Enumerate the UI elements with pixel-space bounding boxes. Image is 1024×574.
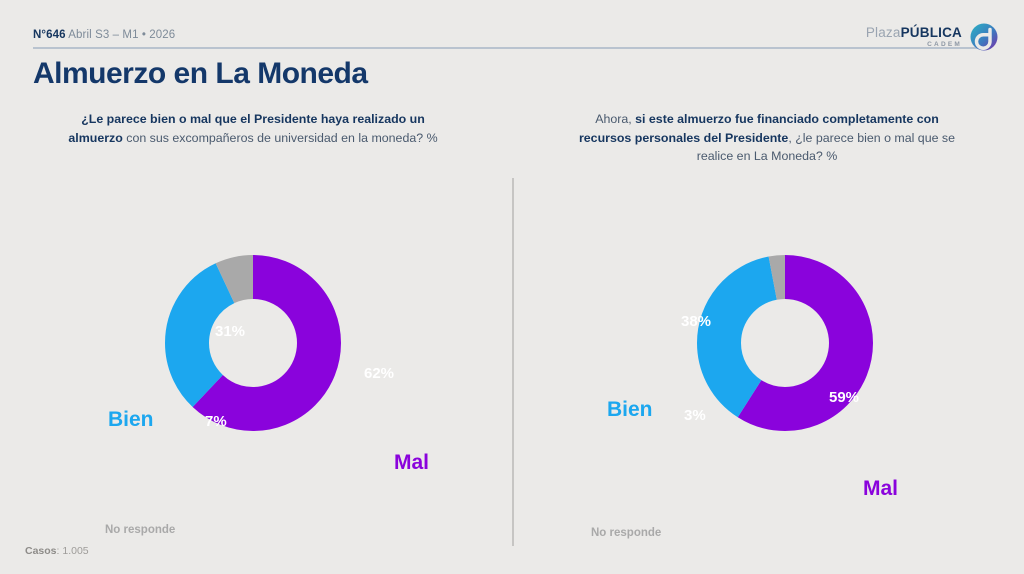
question-normal-right-1: Ahora,	[595, 112, 635, 126]
issue-date: Abril S3 – M1 • 2026	[68, 29, 175, 41]
panel-divider	[512, 178, 514, 546]
donut-svg-left	[165, 255, 341, 431]
value-bien-right: 38%	[681, 313, 711, 330]
label-bien-right: Bien	[607, 398, 653, 422]
footer-cases-value: : 1.005	[57, 545, 89, 557]
label-no-responde-left: No responde	[105, 524, 175, 536]
label-no-responde-right: No responde	[591, 527, 661, 539]
value-bien-left: 31%	[215, 323, 245, 340]
value-mal-left: 62%	[364, 365, 394, 382]
footer-cases-label: Casos	[25, 545, 57, 557]
brand-plaza-text: Plaza	[866, 25, 901, 40]
cadem-circle-icon	[969, 22, 999, 52]
label-bien-left: Bien	[108, 408, 154, 432]
question-text-right: Ahora, si este almuerzo fue financiado c…	[552, 110, 982, 166]
label-mal-right: Mal	[863, 477, 898, 501]
footer-cases: Casos: 1.005	[25, 545, 89, 557]
header-meta: N°646 Abril S3 – M1 • 2026	[33, 29, 175, 41]
brand-wordmark: PlazaPÚBLICA CADEM	[866, 26, 962, 49]
value-no-responde-right: 3%	[684, 407, 706, 424]
header-divider	[33, 47, 991, 49]
question-normal-left: con sus excompañeros de universidad en l…	[126, 131, 437, 145]
label-mal-left: Mal	[394, 451, 429, 475]
brand-publica-text: PÚBLICA	[901, 25, 962, 40]
issue-number: N°646	[33, 29, 66, 41]
donut-chart-left: 31% 62% 7% Bien Mal No responde	[38, 255, 468, 510]
chart-panel-right: Ahora, si este almuerzo fue financiado c…	[552, 110, 982, 510]
value-no-responde-left: 7%	[205, 413, 227, 430]
chart-panel-left: ¿Le parece bien o mal que el Presidente …	[38, 110, 468, 510]
donut-chart-right: 38% 59% 3% Bien Mal No responde	[552, 255, 982, 510]
brand-cadem-text: CADEM	[927, 42, 962, 49]
question-text-left: ¿Le parece bien o mal que el Presidente …	[38, 110, 468, 147]
brand-logo: PlazaPÚBLICA CADEM	[866, 22, 999, 52]
value-mal-right: 59%	[829, 389, 859, 406]
page-title: Almuerzo en La Moneda	[33, 57, 368, 91]
